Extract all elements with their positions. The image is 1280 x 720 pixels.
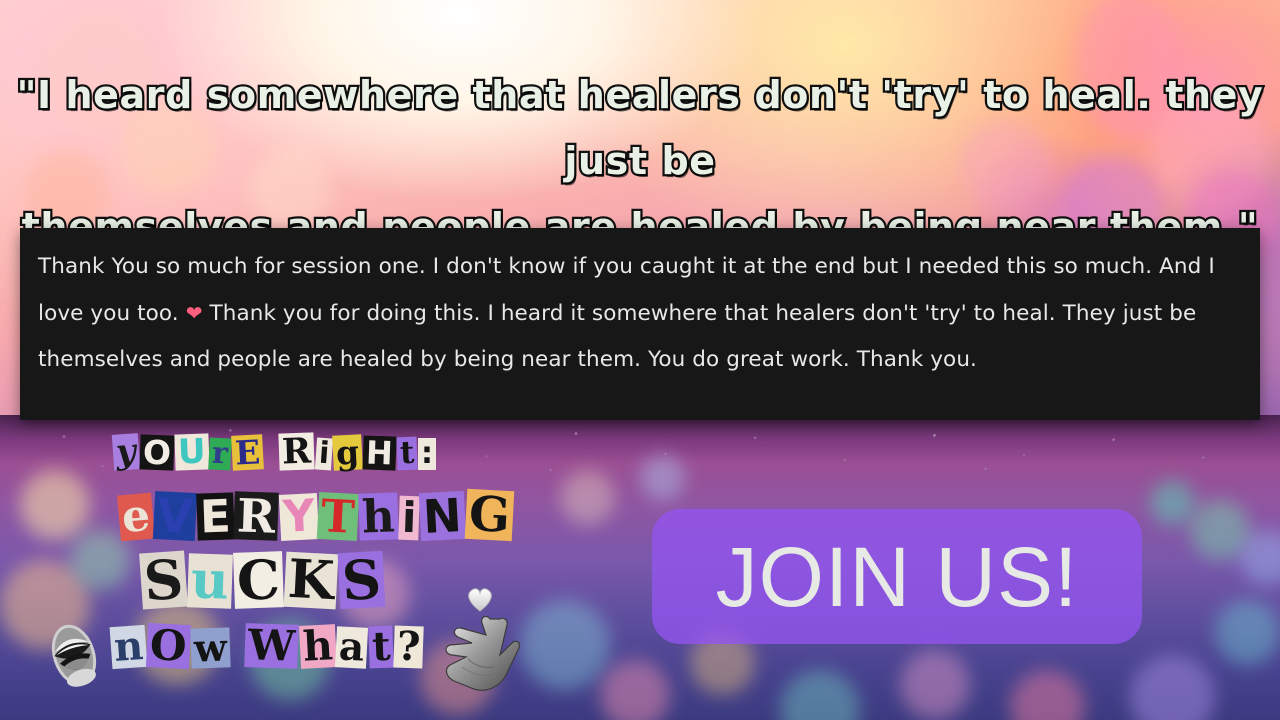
- ransom-letter: G: [464, 489, 514, 541]
- heart-icon: [469, 589, 492, 611]
- headline-line-1: "I heard somewhere that healers don't 't…: [14, 62, 1266, 194]
- ransom-letter: Y: [278, 493, 318, 541]
- bokeh-circle: [20, 470, 90, 540]
- ransom-letter: O: [139, 434, 174, 470]
- ransom-letter: a: [335, 626, 368, 669]
- hand-with-heart: [440, 585, 550, 705]
- ransom-letter: T: [317, 492, 359, 541]
- ransom-letter: ?: [393, 625, 424, 668]
- ransom-letter: S: [139, 550, 188, 609]
- ransom-letter: h: [298, 624, 336, 669]
- ransom-letter: t: [396, 437, 417, 471]
- ransom-letter: R: [234, 491, 280, 541]
- ransom-letter: S: [337, 551, 385, 609]
- ransom-letter: U: [174, 433, 209, 470]
- ransom-letter: w: [190, 627, 230, 668]
- ransom-letter: i: [314, 437, 332, 470]
- ransom-letter: y: [112, 433, 140, 471]
- testimonial-part-2: Thank you for doing this. I heard it som…: [38, 301, 1196, 372]
- ransom-letter: t: [368, 626, 394, 669]
- bokeh-circle: [1215, 600, 1280, 665]
- join-us-button[interactable]: JOIN US!: [652, 509, 1142, 644]
- ransom-letter: :: [418, 438, 436, 470]
- ransom-letter: W: [245, 623, 300, 669]
- open-hand-icon: [446, 616, 519, 690]
- ransom-letter: E: [231, 434, 264, 471]
- ransom-letter: n: [110, 625, 148, 669]
- ransom-letter: H: [362, 435, 396, 470]
- testimonial-text: Thank You so much for session one. I don…: [38, 244, 1242, 383]
- ransom-line-everything: eVERYThiNG: [119, 482, 513, 540]
- open-mouth-icon: [42, 617, 106, 693]
- ransom-line-youre-right: yOUrERigHt:: [113, 428, 513, 470]
- testimonial-card: Thank You so much for session one. I don…: [20, 228, 1260, 420]
- ransom-letter: E: [196, 492, 234, 540]
- ransom-letter: R: [279, 432, 315, 470]
- ransom-letter: O: [146, 623, 191, 669]
- ransom-letter: V: [153, 491, 197, 541]
- join-us-label: JOIN US!: [716, 535, 1079, 619]
- bokeh-circle: [1150, 480, 1195, 525]
- ransom-letter: K: [283, 552, 338, 610]
- bokeh-circle: [560, 470, 615, 525]
- heart-icon: ❤: [186, 301, 203, 325]
- ransom-letter: e: [117, 493, 155, 542]
- ransom-letter: g: [332, 434, 363, 470]
- ransom-letter: h: [358, 492, 398, 540]
- bokeh-circle: [900, 650, 970, 720]
- ransom-letter: u: [187, 553, 233, 608]
- ransom-letter: i: [398, 496, 420, 541]
- bokeh-circle: [640, 455, 685, 500]
- ransom-letter: C: [233, 551, 284, 609]
- ransom-letter: r: [209, 437, 232, 470]
- ransom-letter: N: [419, 491, 466, 541]
